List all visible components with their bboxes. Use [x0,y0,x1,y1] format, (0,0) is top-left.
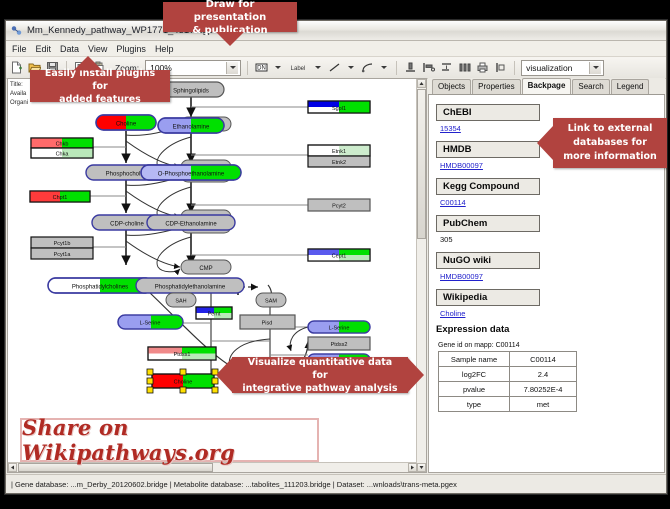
expression-table: Sample name C00114 log2FC 2.4 pvalue 7.8… [438,351,577,412]
gene-box-pisd: Pisd [240,315,295,329]
callout-external-line2: databases for [563,136,657,150]
scroll-up-button[interactable] [417,79,426,88]
tab-backpage[interactable]: Backpage [522,78,572,94]
table-row: pvalue 7.80252E-4 [439,382,577,397]
distribute-icon[interactable] [457,60,472,75]
svg-text:Cept1: Cept1 [332,254,347,260]
share-banner: Share on Wikipathways.org [20,418,319,462]
db-header-hmdb: HMDB [436,141,540,158]
gene-box-chpt1: Chpt1 [30,191,90,202]
arc-dropdown[interactable] [378,61,390,74]
canvas-vertical-scrollbar[interactable] [416,79,426,472]
node-sah: SAH [166,293,196,307]
svg-text:Chkb: Chkb [56,142,69,148]
svg-text:Sgpl1: Sgpl1 [332,106,346,112]
callout-external-line1: Link to external [563,122,657,136]
svg-text:Ptdss1: Ptdss1 [174,352,191,358]
svg-text:Pcyt2: Pcyt2 [332,204,346,210]
menubar[interactable]: File Edit Data View Plugins Help [6,41,666,57]
pathway-diagram[interactable]: Choline Phosphocholine CDP-choline [8,79,427,473]
svg-text:Chka: Chka [56,152,70,158]
db-section-kegg: Kegg Compound C00114 [436,176,664,207]
db-link-wikipedia[interactable]: Choline [440,309,664,318]
datanode-icon[interactable]: DN [254,60,269,75]
gene-box-pemt: Pemt [196,307,232,319]
db-section-pubchem: PubChem 305 [436,213,664,244]
db-value-pubchem: 305 [440,235,664,244]
tab-objects[interactable]: Objects [432,79,471,94]
callout-plugins: Easily install plugins for added feature… [30,70,170,102]
new-file-icon[interactable] [9,60,24,75]
node-o-phosphoethanolamine: O-Phosphoethanolamine [141,165,241,180]
expression-key: pvalue [439,382,510,397]
db-header-wikipedia: Wikipedia [436,289,540,306]
gene-id-label: Gene id on mapp: C00114 [438,342,664,349]
svg-text:CMP: CMP [199,266,212,272]
window-titlebar: Mm_Kennedy_pathway_WP1771_45176.gpml [6,21,666,41]
callout-visualize-line2: integrative pathway analysis [240,382,400,395]
pathvisio-app-icon [11,25,22,36]
gene-box-sgpl1: Sgpl1 [308,101,370,113]
sidebar-tabstrip[interactable]: Objects Properties Backpage Search Legen… [428,78,665,95]
expression-value: met [510,397,577,412]
table-row: type met [439,397,577,412]
svg-text:Pemt: Pemt [208,312,221,318]
pathway-canvas[interactable]: Title: Availa Organi [7,78,427,473]
group-icon[interactable] [493,60,508,75]
menu-file[interactable]: File [12,44,27,54]
gene-box-ptdss2: Ptdss2 [308,337,370,350]
stack-vertical-icon[interactable] [439,60,454,75]
expression-key: type [439,397,510,412]
callout-draw: Draw for presentation & publication [163,2,297,32]
svg-text:L-Serine: L-Serine [329,326,350,332]
node-l-serine-right: L-Serine [308,321,370,333]
scroll-left-button[interactable] [8,463,17,472]
align-left-icon[interactable] [421,60,436,75]
line-dropdown[interactable] [345,61,357,74]
db-link-kegg[interactable]: C00114 [440,198,664,207]
db-section-wikipedia: Wikipedia Choline [436,287,664,318]
svg-text:O-Phosphoethanolamine: O-Phosphoethanolamine [158,172,225,178]
callout-external: Link to external databases for more info… [553,118,667,168]
svg-text:Choline: Choline [116,122,137,128]
visualization-value: visualization [526,63,572,73]
scroll-right-button[interactable] [408,463,417,472]
arc-icon[interactable] [360,60,375,75]
status-bar: | Gene database: ...m_Derby_20120602.bri… [6,474,666,493]
svg-text:L-Serine: L-Serine [140,321,161,327]
label-dropdown[interactable] [312,61,324,74]
expression-value: 7.80252E-4 [510,382,577,397]
callout-visualize-arrow-right-icon [408,358,424,392]
callout-external-arrow-icon [537,126,553,160]
callout-plugins-line2: added features [38,93,162,106]
table-row: Sample name C00114 [439,352,577,367]
gene-box-cept1: Cept1 [308,249,370,261]
scroll-thumb-vertical[interactable] [417,89,426,239]
node-cmp: CMP [181,260,231,274]
callout-visualize: Visualize quantitative data for integrat… [232,357,408,393]
tab-legend[interactable]: Legend [611,79,650,94]
db-header-nugo: NuGO wiki [436,252,540,269]
svg-text:CDP-choline: CDP-choline [110,222,144,228]
db-header-chebi: ChEBI [436,104,540,121]
node-choline-selected: Choline [147,369,218,393]
callout-plugins-arrow-icon [74,56,102,70]
toolbar-separator [247,61,248,75]
gene-box-ptdss1: Ptdss1 [148,347,216,360]
node-choline: Choline [96,115,157,130]
menu-help[interactable]: Help [155,44,174,54]
svg-text:SAM: SAM [265,299,277,305]
table-row: log2FC 2.4 [439,367,577,382]
svg-text:Phosphatidylcholines: Phosphatidylcholines [72,285,128,291]
datanode-dropdown[interactable] [272,61,284,74]
db-header-pubchem: PubChem [436,215,540,232]
expression-key: Sample name [439,352,510,367]
node-l-serine-left: L-Serine [118,315,183,329]
callout-visualize-arrow-left-icon [216,358,232,392]
tab-properties[interactable]: Properties [472,79,520,94]
svg-text:Ethanolamine: Ethanolamine [173,125,210,131]
svg-text:Pcyt1b: Pcyt1b [54,241,71,247]
svg-text:Phosphatidylethanolamine: Phosphatidylethanolamine [155,285,226,291]
expression-value: C00114 [510,352,577,367]
svg-text:Choline: Choline [174,380,193,386]
callout-visualize-line1: Visualize quantitative data for [240,356,400,382]
callout-external-line3: more information [563,150,657,164]
svg-text:SAH: SAH [175,299,186,305]
callout-draw-line1: Draw for presentation [171,0,289,24]
chevron-down-icon[interactable] [226,62,238,74]
node-ethanolamine: Ethanolamine [158,118,225,133]
svg-text:Pisd: Pisd [262,321,273,327]
chevron-down-icon[interactable] [589,62,601,74]
print-icon[interactable] [475,60,490,75]
menu-data[interactable]: Data [60,44,79,54]
menu-view[interactable]: View [88,44,107,54]
gene-box-chkb-chka: Chkb Chka [31,138,93,158]
expression-data-heading: Expression data [436,324,664,335]
screenshot-root: Mm_Kennedy_pathway_WP1771_45176.gpml Fil… [0,0,670,509]
svg-text:Ptdss2: Ptdss2 [331,342,348,348]
svg-text:Chpt1: Chpt1 [53,195,68,201]
db-link-nugo[interactable]: HMDB00097 [440,272,664,281]
menu-edit[interactable]: Edit [36,44,52,54]
expression-key: log2FC [439,367,510,382]
label-icon[interactable]: Label [287,60,309,75]
svg-text:Label: Label [291,66,306,72]
status-text: | Gene database: ...m_Derby_20120602.bri… [11,480,457,489]
svg-text:Pcyt1a: Pcyt1a [54,252,72,258]
gene-box-pcyt2: Pcyt2 [308,199,370,211]
expression-value: 2.4 [510,367,577,382]
node-cdp-ethanolamine: CDP-Ethanolamine [147,215,235,230]
menu-plugins[interactable]: Plugins [116,44,146,54]
share-banner-text: Share on Wikipathways.org [22,415,317,465]
svg-text:CDP-Ethanolamine: CDP-Ethanolamine [165,222,217,228]
callout-plugins-line1: Easily install plugins for [38,67,162,93]
toolbar-separator [396,61,397,75]
svg-text:DN: DN [257,66,266,72]
svg-text:Etnk2: Etnk2 [332,160,346,166]
gene-box-etnk1-etnk2: Etnk1 Etnk2 [308,145,370,167]
db-section-nugo: NuGO wiki HMDB00097 [436,250,664,281]
db-header-kegg: Kegg Compound [436,178,540,195]
svg-text:Sphingolipids: Sphingolipids [173,89,209,95]
toolbar-separator [514,61,515,75]
align-bottom-icon[interactable] [403,60,418,75]
node-sam: SAM [256,293,286,307]
line-icon[interactable] [327,60,342,75]
gene-box-pcyt1b-pcyt1a: Pcyt1b Pcyt1a [31,237,93,259]
tab-search[interactable]: Search [572,79,609,94]
callout-draw-arrow-icon [216,32,244,46]
visualization-combobox[interactable]: visualization [521,60,604,76]
svg-text:Etnk1: Etnk1 [332,149,346,155]
scroll-down-button[interactable] [417,463,426,472]
node-phosphatidylethanolamine: Phosphatidylethanolamine [136,278,244,293]
